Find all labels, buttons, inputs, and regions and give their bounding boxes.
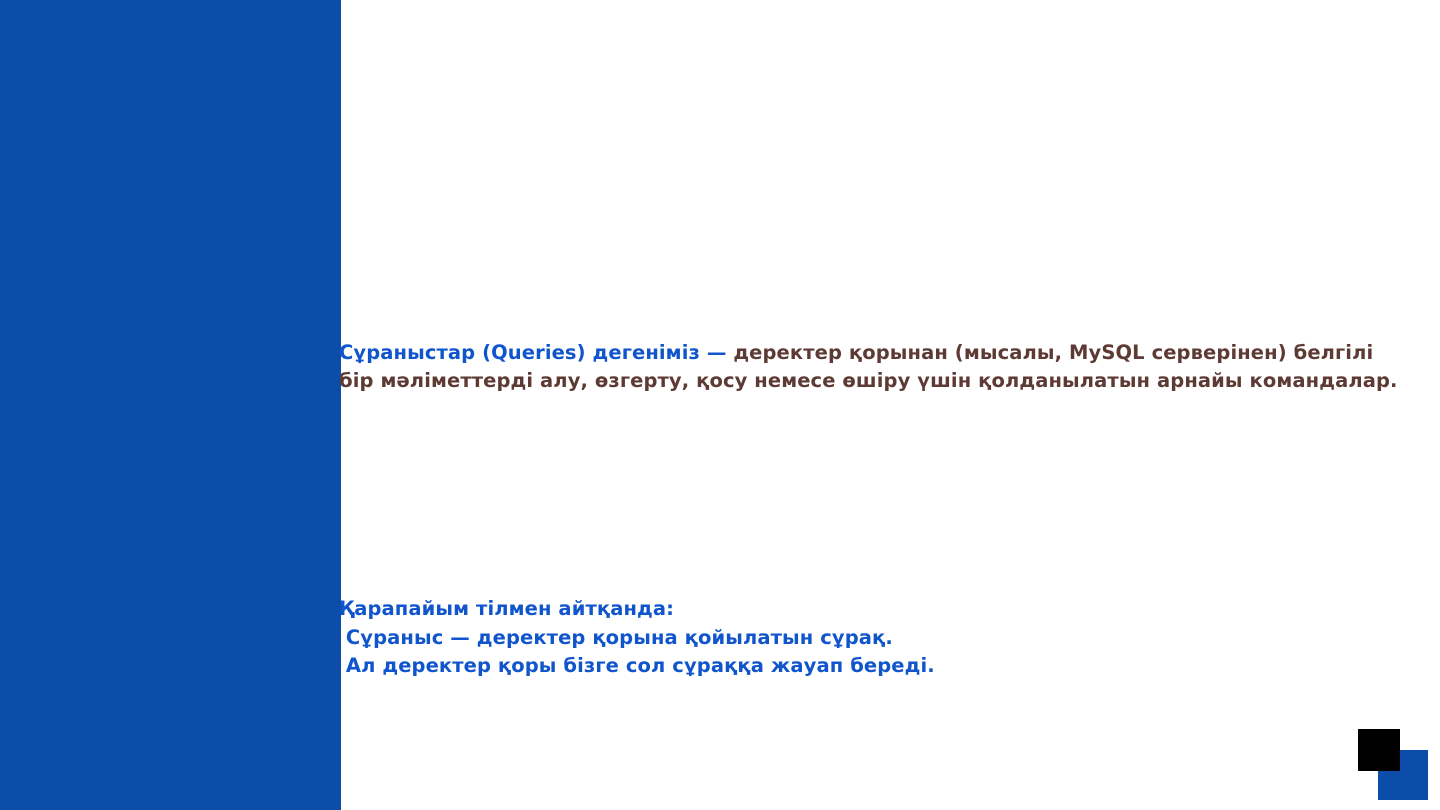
simple-explanation-line-query: Сұраныс — деректер қорына қойылатын сұра…	[339, 626, 893, 649]
paragraph-spacer	[339, 481, 1414, 510]
slide-canvas: Сұраныстар (Queries) дегеніміз — деректе…	[0, 0, 1440, 810]
simple-explanation-heading: Қарапайым тілмен айтқанда:	[339, 597, 674, 620]
simple-explanation-line-answer: Ал деректер қоры бізге сол сұраққа жауап…	[339, 654, 935, 677]
definition-lead-text: Сұраныстар (Queries) дегеніміз —	[339, 341, 726, 364]
left-accent-band	[0, 0, 341, 810]
paragraph-simple-explanation: Қарапайым тілмен айтқанда: Сұраныс — дер…	[339, 595, 1414, 681]
paragraph-definition: Сұраныстар (Queries) дегеніміз — деректе…	[339, 339, 1414, 396]
corner-decoration	[1358, 729, 1440, 810]
black-square-icon	[1358, 729, 1400, 771]
slide-body-text: Сұраныстар (Queries) дегеніміз — деректе…	[339, 253, 1414, 766]
